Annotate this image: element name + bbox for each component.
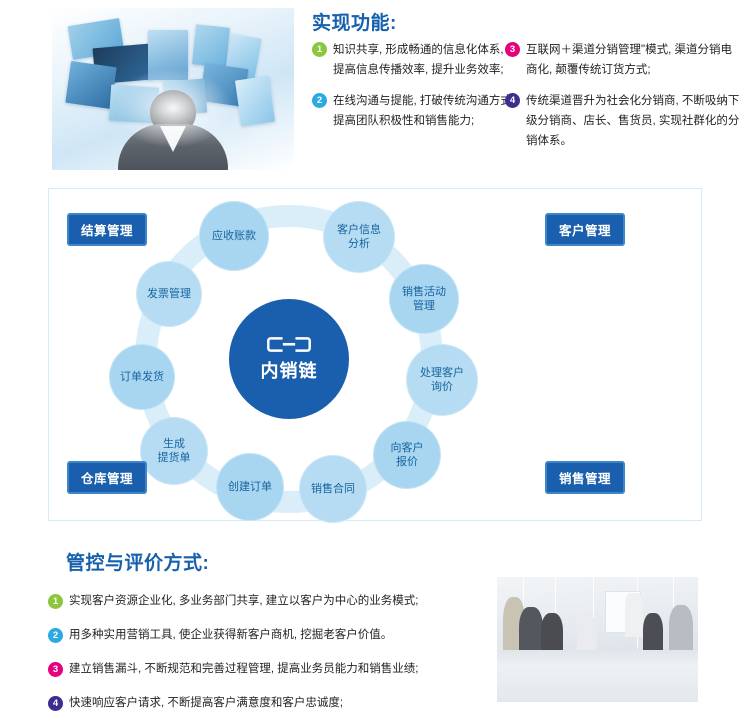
node-create-order[interactable]: 创建订单 xyxy=(216,453,284,521)
bottom-title: 管控与评价方式: xyxy=(66,554,209,573)
badge-number-4: 4 xyxy=(505,93,520,108)
management-evaluation-section: 管控与评价方式: 1 实现客户资源企业化, 多业务部门共享, 建立以客户为中心的… xyxy=(0,540,750,726)
badge-number-2: 2 xyxy=(312,93,327,108)
list-item-text: 建立销售漏斗, 不断规范和完善过程管理, 提高业务员能力和销售业绩; xyxy=(69,661,418,677)
list-item: 4 快速响应客户请求, 不断提高客户满意度和客户忠诚度; xyxy=(48,686,478,720)
features-section: 实现功能: 1 知识共享, 形成畅通的信息化体系, 提高信息传播效率, 提升业务… xyxy=(0,0,750,178)
node-order-shipment-label: 订单发货 xyxy=(120,370,164,384)
tag-sales-mgmt[interactable]: 销售管理 xyxy=(545,461,625,494)
node-handle-inquiry-label: 处理客户 询价 xyxy=(420,366,464,394)
feature-list-left: 1 知识共享, 形成畅通的信息化体系, 提高信息传播效率, 提升业务效率; 2 … xyxy=(312,40,517,142)
node-customer-info[interactable]: 客户信息 分析 xyxy=(323,201,395,273)
feature-list-right: 3 互联网＋渠道分销管理"模式, 渠道分销电商化, 颠覆传统订货方式; 4 传统… xyxy=(505,40,740,162)
feature-item: 2 在线沟通与提能, 打破传统沟通方式, 提高团队积极性和销售能力; xyxy=(312,91,517,131)
page-root: 实现功能: 1 知识共享, 形成畅通的信息化体系, 提高信息传播效率, 提升业务… xyxy=(0,0,750,726)
process-diagram-panel: 内销链 应收账款发票管理订单发货生成 提货单创建订单销售合同向客户 报价处理客户… xyxy=(48,188,702,521)
tag-customer-mgmt[interactable]: 客户管理 xyxy=(545,213,625,246)
node-pickup-order-label: 生成 提货单 xyxy=(158,437,191,465)
list-item-text: 实现客户资源企业化, 多业务部门共享, 建立以客户为中心的业务模式; xyxy=(69,593,418,609)
list-item: 1 实现客户资源企业化, 多业务部门共享, 建立以客户为中心的业务模式; xyxy=(48,584,478,618)
tag-settlement-mgmt[interactable]: 结算管理 xyxy=(67,213,147,246)
feature-text: 传统渠道晋升为社会化分销商, 不断吸纳下级分销商、店长、售货员, 实现社群化的分… xyxy=(526,91,740,151)
list-item-text: 用多种实用营销工具, 使企业获得新客户商机, 挖掘老客户价值。 xyxy=(69,627,392,643)
feature-item: 4 传统渠道晋升为社会化分销商, 不断吸纳下级分销商、店长、售货员, 实现社群化… xyxy=(505,91,740,151)
list-item: 2 用多种实用营销工具, 使企业获得新客户商机, 挖掘老客户价值。 xyxy=(48,618,478,652)
feature-text: 互联网＋渠道分销管理"模式, 渠道分销电商化, 颠覆传统订货方式; xyxy=(526,40,740,80)
badge-number-1: 1 xyxy=(48,594,63,609)
badge-number-4: 4 xyxy=(48,696,63,711)
diagram-stage: 内销链 应收账款发票管理订单发货生成 提货单创建订单销售合同向客户 报价处理客户… xyxy=(49,189,703,522)
feature-text: 知识共享, 形成畅通的信息化体系, 提高信息传播效率, 提升业务效率; xyxy=(333,40,517,80)
node-receivables-label: 应收账款 xyxy=(212,229,256,243)
node-receivables[interactable]: 应收账款 xyxy=(199,201,269,271)
node-invoice-label: 发票管理 xyxy=(147,287,191,301)
list-item-text: 快速响应客户请求, 不断提高客户满意度和客户忠诚度; xyxy=(69,695,343,711)
feature-item: 3 互联网＋渠道分销管理"模式, 渠道分销电商化, 颠覆传统订货方式; xyxy=(505,40,740,80)
badge-number-2: 2 xyxy=(48,628,63,643)
hub-center: 内销链 xyxy=(229,299,349,419)
node-pickup-order[interactable]: 生成 提货单 xyxy=(140,417,208,485)
node-create-order-label: 创建订单 xyxy=(228,480,272,494)
list-item: 3 建立销售漏斗, 不断规范和完善过程管理, 提高业务员能力和销售业绩; xyxy=(48,652,478,686)
node-quote-customer-label: 向客户 报价 xyxy=(391,441,424,469)
node-sales-contract[interactable]: 销售合同 xyxy=(299,455,367,523)
node-handle-inquiry[interactable]: 处理客户 询价 xyxy=(406,344,478,416)
feature-text: 在线沟通与提能, 打破传统沟通方式, 提高团队积极性和销售能力; xyxy=(333,91,517,131)
hero-photo xyxy=(52,8,294,170)
feature-item: 1 知识共享, 形成畅通的信息化体系, 提高信息传播效率, 提升业务效率; xyxy=(312,40,517,80)
node-order-shipment[interactable]: 订单发货 xyxy=(109,344,175,410)
node-quote-customer[interactable]: 向客户 报价 xyxy=(373,421,441,489)
node-invoice[interactable]: 发票管理 xyxy=(136,261,202,327)
badge-number-3: 3 xyxy=(48,662,63,677)
node-sales-contract-label: 销售合同 xyxy=(311,482,355,496)
node-customer-info-label: 客户信息 分析 xyxy=(337,223,381,251)
hub-label: 内销链 xyxy=(261,357,318,383)
badge-number-3: 3 xyxy=(505,42,520,57)
tag-warehouse-mgmt[interactable]: 仓库管理 xyxy=(67,461,147,494)
meeting-photo xyxy=(497,577,698,702)
evaluation-list: 1 实现客户资源企业化, 多业务部门共享, 建立以客户为中心的业务模式; 2 用… xyxy=(48,584,478,720)
node-sales-activity-label: 销售活动 管理 xyxy=(402,285,446,313)
badge-number-1: 1 xyxy=(312,42,327,57)
page-title: 实现功能: xyxy=(312,14,397,33)
node-sales-activity[interactable]: 销售活动 管理 xyxy=(389,264,459,334)
chain-link-icon xyxy=(266,336,312,353)
